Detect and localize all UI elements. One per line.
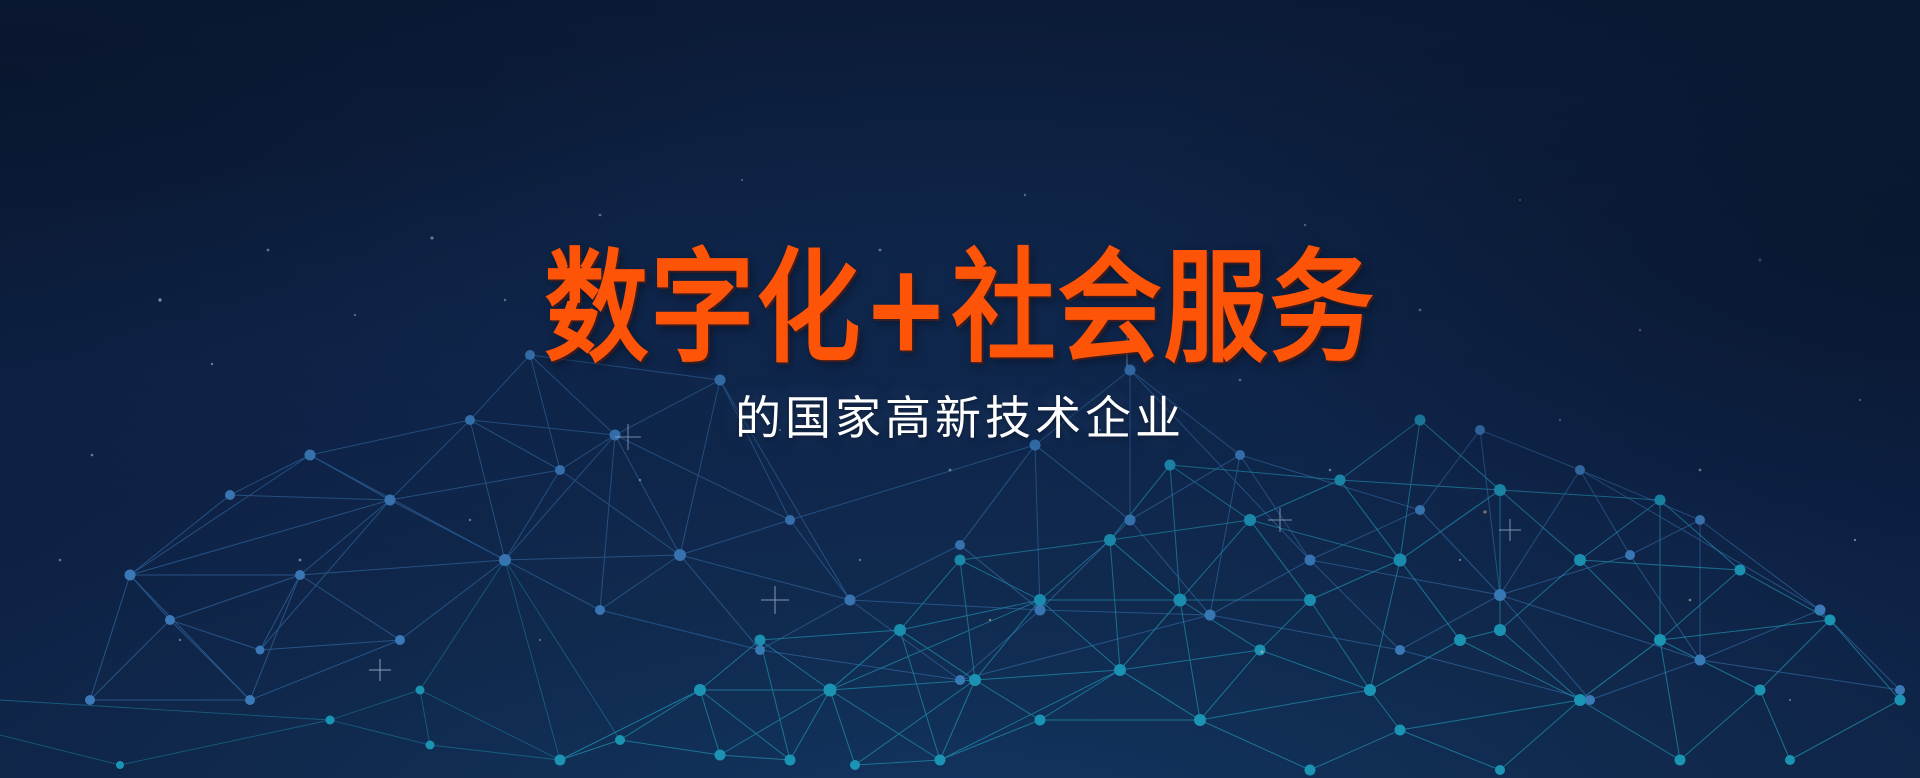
page-title: 数字化+社会服务 <box>0 243 1920 373</box>
banner-hero: 数字化+社会服务 的国家高新技术企业 <box>0 0 1920 778</box>
hero-text-block: 数字化+社会服务 的国家高新技术企业 <box>0 243 1920 444</box>
